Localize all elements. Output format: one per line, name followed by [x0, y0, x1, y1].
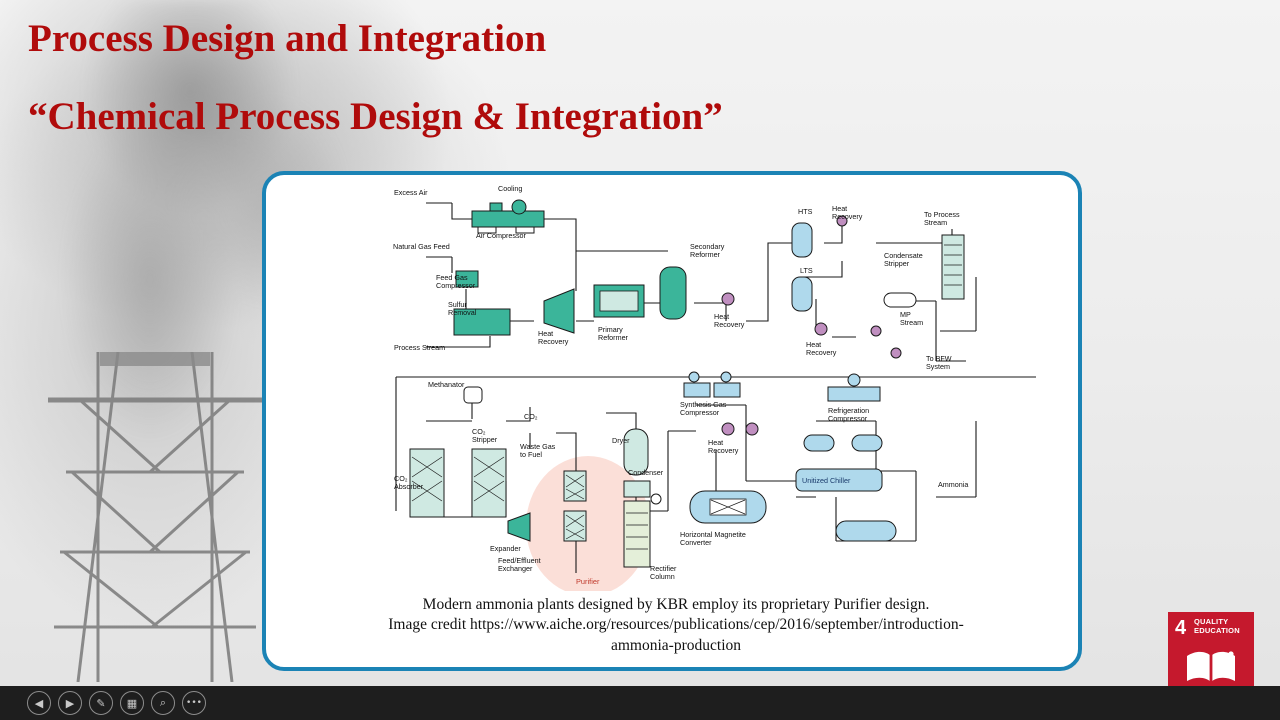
equipment-primary-reformer	[594, 285, 644, 317]
previous-button[interactable]: ◀	[27, 691, 51, 715]
equipment-ammonia-separator	[836, 521, 896, 541]
equipment-hts-vessel	[792, 223, 812, 257]
caption-line-1: Modern ammonia plants designed by KBR em…	[280, 595, 1072, 615]
equipment-horizontal-magnetite-converter	[690, 491, 766, 523]
pfd-label-refrigeration-compressor: RefrigerationCompressor	[828, 406, 869, 423]
pfd-label-cooling: Cooling	[498, 184, 522, 193]
sdg-number: 4	[1175, 617, 1186, 640]
caption-line-2: Image credit https://www.aiche.org/resou…	[280, 615, 1072, 635]
pen-button[interactable]: ✎	[89, 691, 113, 715]
slide-title-line-2: “Chemical Process Design & Integration”	[28, 94, 723, 139]
equipment-condenser	[624, 481, 650, 497]
industrial-tower-silhouette	[40, 352, 270, 682]
image-caption: Modern ammonia plants designed by KBR em…	[280, 595, 1072, 656]
pfd-label-rectifier-column: RectifierColumn	[650, 564, 677, 581]
pfd-label-hts: HTS	[798, 207, 813, 216]
sdg-label: QUALITY EDUCATION	[1194, 618, 1240, 635]
diagram-card: Excess Air Cooling Air Compressor Natura…	[262, 171, 1082, 671]
video-player-bar[interactable]: ◀ ▶ ✎ ▦ ⌕ •••	[0, 686, 1280, 720]
equipment-co2-stripper	[472, 449, 506, 517]
pfd-label-air-compressor: Air Compressor	[476, 231, 527, 240]
equipment-secondary-reformer	[660, 267, 686, 319]
pfd-label-unitized-chiller: Unitized Chiller	[802, 476, 851, 485]
pfd-label-expander: Expander	[490, 544, 521, 553]
search-button[interactable]: ⌕	[151, 691, 175, 715]
equipment-condensate-stripper	[942, 235, 964, 299]
equipment-lts-vessel	[792, 277, 812, 311]
pfd-label-purifier: Purifier	[576, 577, 600, 586]
slide-title-line-1: Process Design and Integration	[28, 16, 546, 61]
pfd-label-dryer: Dryer	[612, 436, 630, 445]
pfd-label-co2: CO₂	[524, 412, 538, 421]
play-button[interactable]: ▶	[58, 691, 82, 715]
pfd-label-process-stream: Process Stream	[394, 343, 445, 352]
equipment-methanator	[464, 387, 482, 403]
pfd-label-ammonia: Ammonia	[938, 480, 968, 489]
pfd-label-to-bfw-system: To BFWSystem	[926, 354, 952, 371]
equipment-heat-recovery-2	[722, 293, 734, 305]
pfd-label-lts: LTS	[800, 266, 813, 275]
pfd-label-natural-gas-feed: Natural Gas Feed	[393, 242, 450, 251]
pfd-label-methanator: Methanator	[428, 380, 465, 389]
more-button[interactable]: •••	[182, 691, 206, 715]
caption-line-3: ammonia-production	[280, 636, 1072, 656]
grid-button[interactable]: ▦	[120, 691, 144, 715]
sdg-label-line-2: EDUCATION	[1194, 627, 1240, 636]
equipment-separator-drum	[884, 293, 916, 307]
pfd-label-secondary-reformer: SecondaryReformer	[690, 242, 725, 259]
process-flow-diagram: Excess Air Cooling Air Compressor Natura…	[276, 181, 1076, 591]
pfd-label-condenser: Condenser	[628, 468, 664, 477]
pfd-label-excess-air: Excess Air	[394, 188, 428, 197]
